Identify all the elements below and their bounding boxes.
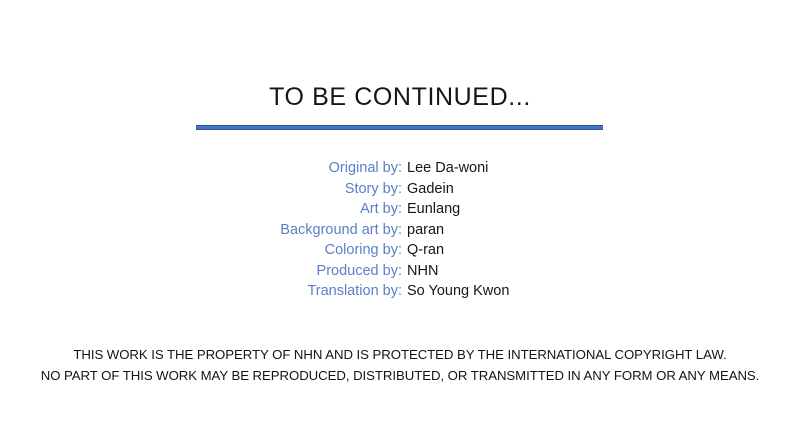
credit-value-produced-by: NHN (407, 261, 438, 282)
credit-value-coloring-by: Q-ran (407, 240, 444, 261)
divider-rule (196, 125, 603, 130)
credit-row: Translation by: So Young Kwon (0, 281, 800, 302)
credit-value-original-by: Lee Da-woni (407, 158, 488, 179)
credit-value-translation-by: So Young Kwon (407, 281, 509, 302)
credits-list: Original by: Lee Da-woni Story by: Gadei… (0, 158, 800, 302)
credit-value-story-by: Gadein (407, 179, 454, 200)
credit-row: Coloring by: Q-ran (0, 240, 800, 261)
copyright-line-2: NO PART OF THIS WORK MAY BE REPRODUCED, … (0, 365, 800, 386)
copyright-notice: THIS WORK IS THE PROPERTY OF NHN AND IS … (0, 344, 800, 386)
credit-label-background-art-by: Background art by: (0, 220, 402, 241)
credit-row: Original by: Lee Da-woni (0, 158, 800, 179)
credit-value-art-by: Eunlang (407, 199, 460, 220)
credit-label-art-by: Art by: (0, 199, 402, 220)
credit-label-coloring-by: Coloring by: (0, 240, 402, 261)
credit-label-translation-by: Translation by: (0, 281, 402, 302)
title-divider (196, 125, 603, 130)
credit-label-produced-by: Produced by: (0, 261, 402, 282)
page-title: TO BE CONTINUED... (0, 82, 800, 112)
credit-label-story-by: Story by: (0, 179, 402, 200)
credit-row: Produced by: NHN (0, 261, 800, 282)
credit-value-background-art-by: paran (407, 220, 444, 241)
copyright-line-1: THIS WORK IS THE PROPERTY OF NHN AND IS … (0, 344, 800, 365)
credit-row: Art by: Eunlang (0, 199, 800, 220)
credit-row: Background art by: paran (0, 220, 800, 241)
credit-label-original-by: Original by: (0, 158, 402, 179)
end-credits-slide: TO BE CONTINUED... Original by: Lee Da-w… (0, 0, 800, 427)
credit-row: Story by: Gadein (0, 179, 800, 200)
